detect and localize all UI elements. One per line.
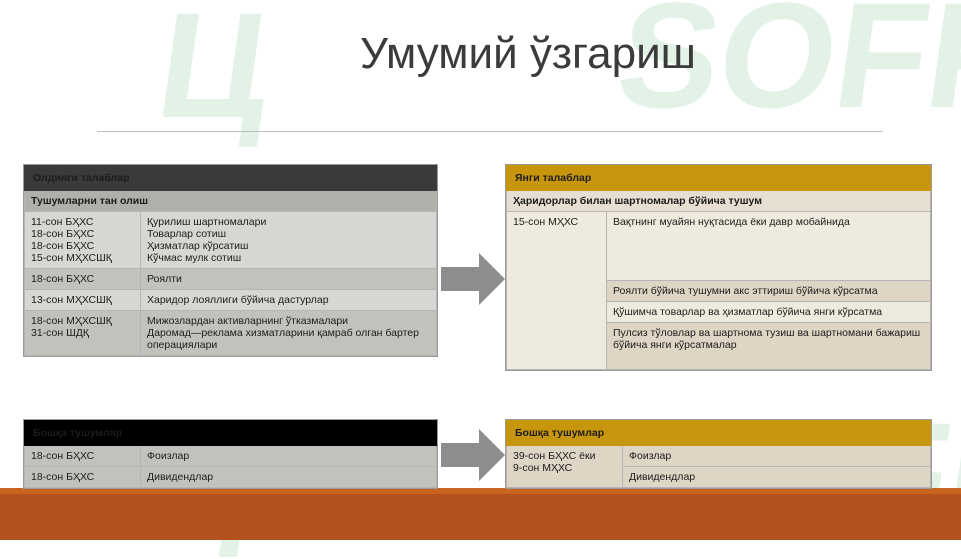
transition-arrow-icon [441,253,505,305]
table-subheader-row: Ҳаридорлар билан шартномалар бўйича тушу… [507,191,931,212]
previous-table-header: Олдинги талаблар [25,166,437,191]
table-header-row: Янги талаблар [507,166,931,191]
standard-reference: 18-сон БҲХС [25,269,141,290]
new-other-income-table: Бошқа тушумлар 39-сон БҲХС ёки 9-сон МҲХ… [506,420,931,488]
new-other-header: Бошқа тушумлар [507,421,931,446]
standard-description: Харидор лояллиги бўйича дастурлар [141,290,437,311]
standard-description: Дивидендлар [141,467,437,488]
standard-reference: 15-сон МҲХС [507,212,607,370]
table-row: 39-сон БҲХС ёки 9-сон МҲХС Фоизлар [507,446,931,467]
table-row: 13-сон МҲХСШҚ Харидор лояллиги бўйича да… [25,290,437,311]
table-row: 18-сон БҲХС Роялти [25,269,437,290]
table-subheader-row: Тушумларни тан олиш [25,191,437,212]
new-table-subheader: Ҳаридорлар билан шартномалар бўйича тушу… [507,191,931,212]
standard-description: Фоизлар [141,446,437,467]
standard-description: Қурилиш шартномалари Товарлар сотиш Ҳизм… [141,212,437,269]
new-requirement-text: Қўшимча товарлар ва ҳизматлар бўйича янг… [607,302,931,323]
standard-reference: 18-сон БҲХС [25,467,141,488]
watermark-letter: Ц [149,0,280,140]
previous-other-header: Бошқа тушумлар [25,421,437,446]
table-header-row: Бошқа тушумлар [25,421,437,446]
new-requirement-text: Пулсиз тўловлар ва шартнома тузиш ва шар… [607,323,931,370]
new-table-header: Янги талаблар [507,166,931,191]
new-requirement-text: Вақтнинг муайян нуқтасида ёки давр мобай… [607,212,931,281]
slide-canvas: Ц SOFF Ц SOFF Умумий ўзгариш Олдинги тал… [0,0,961,540]
table-row: 18-сон МҲХСШҚ 31-сон ШДҚ Мижозлардан акт… [25,311,437,356]
previous-other-income-table: Бошқа тушумлар 18-сон БҲХС Фоизлар 18-со… [24,420,437,488]
standard-description: Мижозлардан активларнинг ўтказмалари Дар… [141,311,437,356]
table-row: 15-сон МҲХС Вақтнинг муайян нуқтасида ёк… [507,212,931,281]
new-requirements-table: Янги талаблар Ҳаридорлар билан шартномал… [506,165,931,370]
previous-requirements-table: Олдинги талаблар Тушумларни тан олиш 11-… [24,165,437,356]
table-header-row: Бошқа тушумлар [507,421,931,446]
standard-reference: 11-сон БҲХС 18-сон БҲХС 18-сон БҲХС 15-с… [25,212,141,269]
table-row: 11-сон БҲХС 18-сон БҲХС 18-сон БҲХС 15-с… [25,212,437,269]
standard-reference: 39-сон БҲХС ёки 9-сон МҲХС [507,446,623,488]
title-divider [97,131,883,132]
standard-reference: 13-сон МҲХСШҚ [25,290,141,311]
transition-arrow-icon-2 [441,429,505,481]
standard-reference: 18-сон БҲХС [25,446,141,467]
standard-description: Дивидендлар [623,467,931,488]
standard-description: Фоизлар [623,446,931,467]
standard-description: Роялти [141,269,437,290]
previous-table-subheader: Тушумларни тан олиш [25,191,437,212]
table-row: 18-сон БҲХС Дивидендлар [25,467,437,488]
slide-title: Умумий ўзгариш [278,30,778,78]
table-row: 18-сон БҲХС Фоизлар [25,446,437,467]
footer-bar [0,494,961,540]
standard-reference: 18-сон МҲХСШҚ 31-сон ШДҚ [25,311,141,356]
table-header-row: Олдинги талаблар [25,166,437,191]
new-requirement-text: Роялти бўйича тушумни акс эттириш бўйича… [607,281,931,302]
